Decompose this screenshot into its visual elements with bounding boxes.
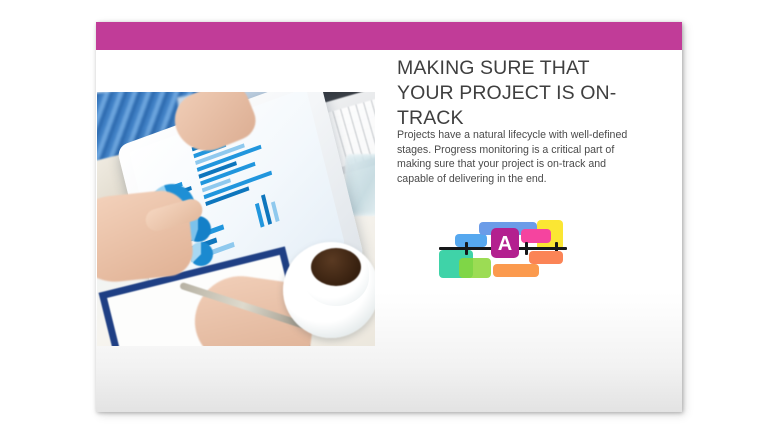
gantt-bar-lime [459, 258, 491, 278]
slide-photo [97, 92, 375, 346]
gantt-bar-pink [521, 229, 551, 243]
gantt-bar-blue-small [455, 234, 487, 247]
slide-header-band [96, 22, 682, 50]
presentation-slide: MAKING SURE THAT YOUR PROJECT IS ON-TRAC… [96, 22, 682, 412]
slide-body-text: Projects have a natural lifecycle with w… [397, 128, 645, 186]
gantt-bar-orange-right [529, 251, 563, 264]
gantt-bar-orange-bottom [493, 264, 539, 277]
gantt-letter-a: A [491, 230, 519, 258]
photo-coffee-liquid [311, 248, 361, 286]
slide-title: MAKING SURE THAT YOUR PROJECT IS ON-TRAC… [397, 56, 647, 131]
project-timeline-icon: A [437, 218, 569, 280]
gantt-tick-1 [465, 242, 468, 255]
gantt-tick-3 [525, 242, 528, 255]
